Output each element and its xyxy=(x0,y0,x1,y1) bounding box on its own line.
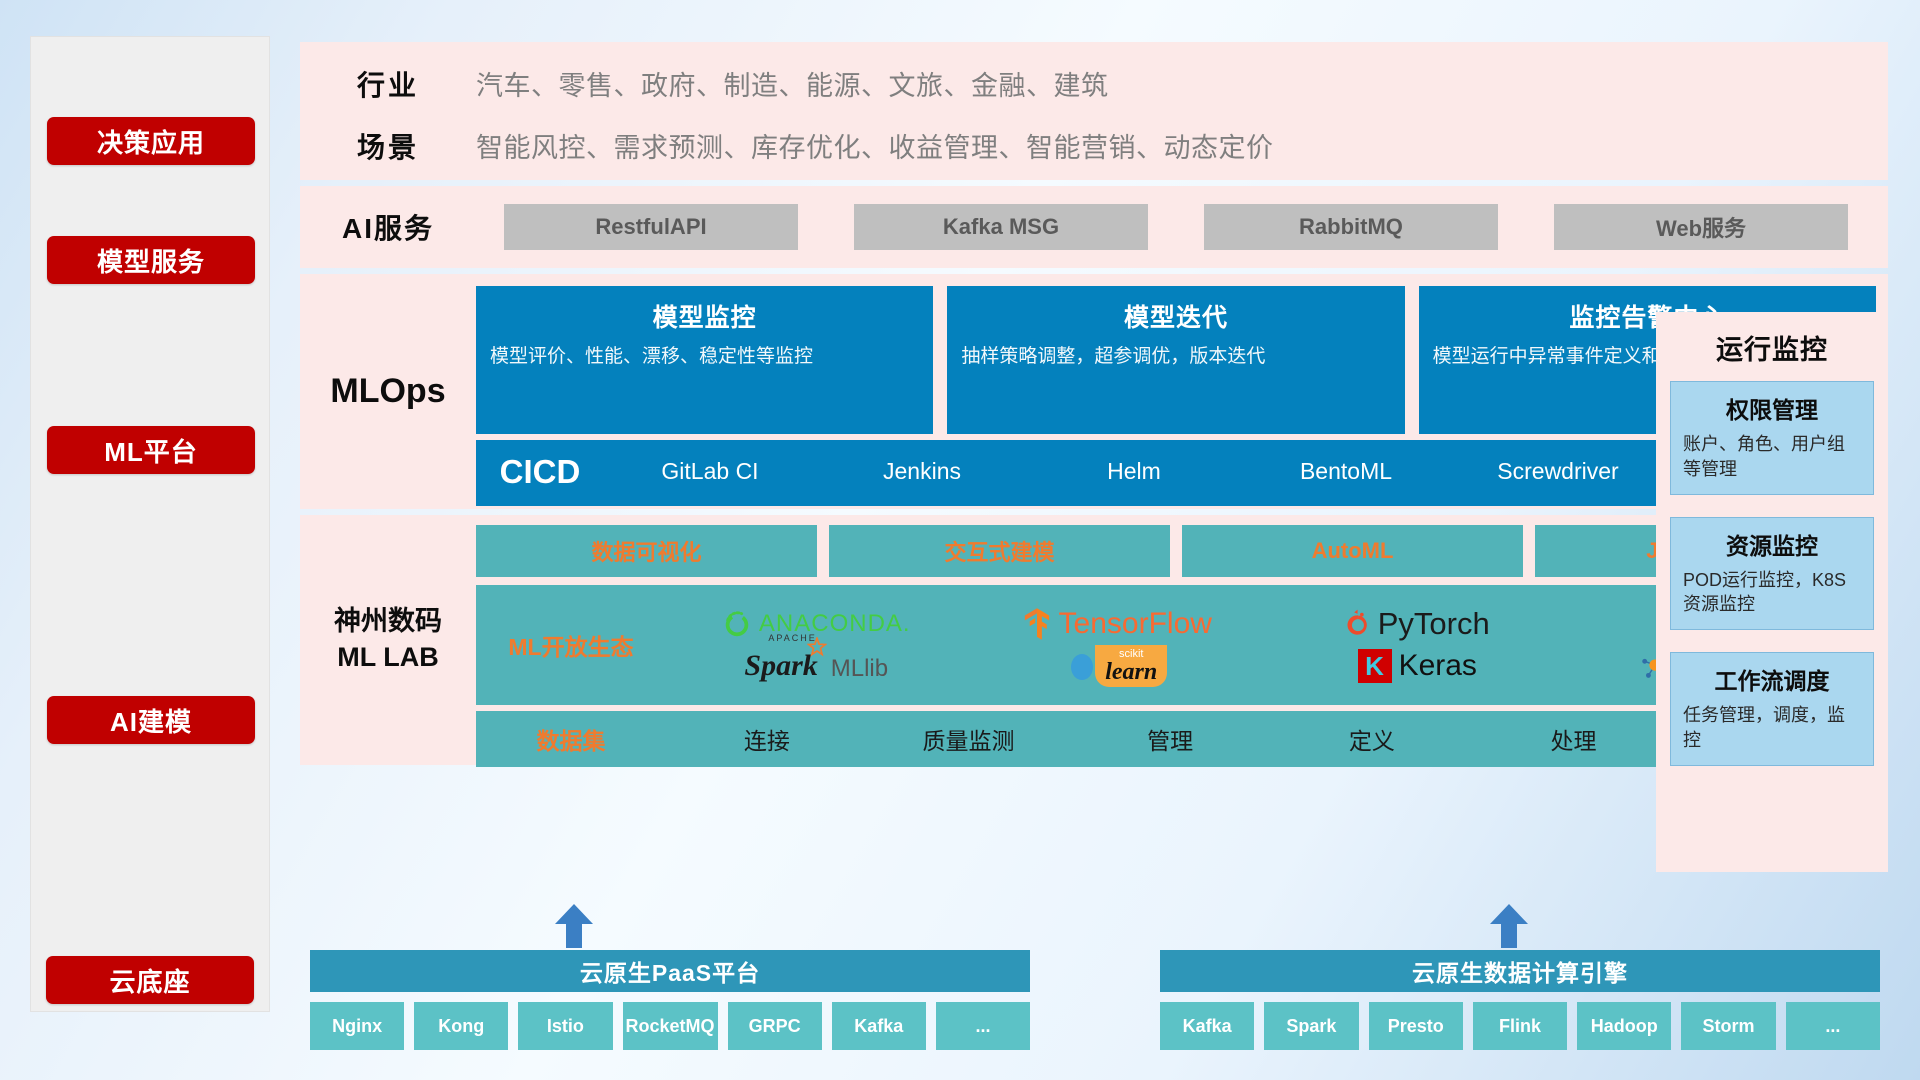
monitor-card-desc: POD运行监控，K8S资源监控 xyxy=(1683,568,1861,618)
mlops-card-model-iteration[interactable]: 模型迭代 抽样策略调整，超参调优，版本迭代 xyxy=(947,286,1404,434)
monitor-card-title: 权限管理 xyxy=(1683,391,1861,425)
cloud-chip-grpc[interactable]: GRPC xyxy=(728,1002,822,1050)
mlops-card-model-monitoring[interactable]: 模型监控 模型评价、性能、漂移、稳定性等监控 xyxy=(476,286,933,434)
rail-item-decision-app[interactable]: 决策应用 xyxy=(47,117,255,165)
monitor-card-desc: 账户、角色、用户组等管理 xyxy=(1683,432,1861,482)
cloud-chip-nginx[interactable]: Nginx xyxy=(310,1002,404,1050)
scenario-key: 场景 xyxy=(300,126,476,166)
monitor-card-desc: 任务管理，调度，监控 xyxy=(1683,703,1861,753)
spark-mllib-logo: APACHE Spark MLlib xyxy=(744,649,888,683)
dataset-item-manage[interactable]: 管理 xyxy=(1069,722,1271,756)
cloud-chip-more[interactable]: ... xyxy=(936,1002,1030,1050)
cloud-chip-spark[interactable]: Spark xyxy=(1264,1002,1358,1050)
pytorch-label: PyTorch xyxy=(1378,606,1490,642)
mlops-card-title: 模型迭代 xyxy=(961,298,1390,334)
mlops-card-desc: 抽样策略调整，超参调优，版本迭代 xyxy=(961,344,1390,370)
ml-lab-band: 神州数码 ML LAB 数据可视化 交互式建模 AutoML JupyterLa… xyxy=(300,515,1888,765)
scikit-learn-logo: scikit learn xyxy=(1066,645,1167,687)
architecture-diagram: 决策应用 模型服务 ML平台 AI建模 云底座 行业 汽车、零售、政府、制造、能… xyxy=(0,0,1920,1080)
ml-lab-tool-interactive-modeling[interactable]: 交互式建模 xyxy=(829,525,1170,577)
monitor-card-title: 资源监控 xyxy=(1683,527,1861,561)
cicd-item-gitlab-ci[interactable]: GitLab CI xyxy=(604,440,816,487)
keras-label: Keras xyxy=(1399,649,1477,683)
cloud-paas-title: 云原生PaaS平台 xyxy=(310,950,1030,992)
cloud-chip-presto[interactable]: Presto xyxy=(1369,1002,1463,1050)
ai-service-chip-web-service[interactable]: Web服务 xyxy=(1554,204,1848,250)
cloud-data-engine-chip-list: Kafka Spark Presto Flink Hadoop Storm ..… xyxy=(1160,1002,1880,1050)
mlops-card-title: 模型监控 xyxy=(490,298,919,334)
scikit-learn-label: learn xyxy=(1105,660,1157,684)
mlops-card-desc: 模型评价、性能、漂移、稳定性等监控 xyxy=(490,344,919,370)
monitor-card-title: 工作流调度 xyxy=(1683,662,1861,696)
monitor-card-workflow[interactable]: 工作流调度 任务管理，调度，监控 xyxy=(1670,652,1874,766)
cloud-chip-storm[interactable]: Storm xyxy=(1681,1002,1775,1050)
runtime-monitoring-panel: 运行监控 权限管理 账户、角色、用户组等管理 资源监控 POD运行监控，K8S资… xyxy=(1656,312,1888,872)
monitor-card-permission[interactable]: 权限管理 账户、角色、用户组等管理 xyxy=(1670,381,1874,495)
industry-scenario-band: 行业 汽车、零售、政府、制造、能源、文旅、金融、建筑 场景 智能风控、需求预测、… xyxy=(300,42,1888,180)
dataset-item-connect[interactable]: 连接 xyxy=(666,722,868,756)
cloud-chip-rocketmq[interactable]: RocketMQ xyxy=(623,1002,718,1050)
ai-service-chip-kafka-msg[interactable]: Kafka MSG xyxy=(854,204,1148,250)
main-stack: 行业 汽车、零售、政府、制造、能源、文旅、金融、建筑 场景 智能风控、需求预测、… xyxy=(300,42,1888,771)
ml-lab-tool-automl[interactable]: AutoML xyxy=(1182,525,1523,577)
ml-lab-tool-data-visualization[interactable]: 数据可视化 xyxy=(476,525,817,577)
rail-item-label: ML平台 xyxy=(104,432,198,469)
dataset-item-define[interactable]: 定义 xyxy=(1271,722,1473,756)
up-arrow-icon-right xyxy=(1490,904,1528,948)
ml-lab-key-line2: ML LAB xyxy=(337,640,439,676)
cloud-chip-hadoop[interactable]: Hadoop xyxy=(1577,1002,1671,1050)
cloud-paas-group: 云原生PaaS平台 Nginx Kong Istio RocketMQ GRPC… xyxy=(310,950,1030,1050)
ai-service-chip-restfulapi[interactable]: RestfulAPI xyxy=(504,204,798,250)
cloud-chip-kong[interactable]: Kong xyxy=(414,1002,508,1050)
cloud-base-section: 云原生PaaS平台 Nginx Kong Istio RocketMQ GRPC… xyxy=(300,902,1888,1052)
mllib-label: MLlib xyxy=(831,655,888,683)
ml-lab-key-line1: 神州数码 xyxy=(334,604,442,640)
mlops-band: MLOps 模型监控 模型评价、性能、漂移、稳定性等监控 模型迭代 抽样策略调整… xyxy=(300,274,1888,509)
ai-service-key: AI服务 xyxy=(300,207,476,247)
ml-lab-key: 神州数码 ML LAB xyxy=(300,515,476,765)
cloud-paas-chip-list: Nginx Kong Istio RocketMQ GRPC Kafka ... xyxy=(310,1002,1030,1050)
dataset-item-process[interactable]: 处理 xyxy=(1473,722,1675,756)
rail-item-label: 模型服务 xyxy=(97,242,205,279)
rail-item-ai-modeling[interactable]: AI建模 xyxy=(47,696,255,744)
ml-ecosystem-label: ML开放生态 xyxy=(476,628,666,662)
ai-service-band: AI服务 RestfulAPI Kafka MSG RabbitMQ Web服务 xyxy=(300,186,1888,268)
tensorflow-logo: TensorFlow xyxy=(1022,607,1212,641)
rail-item-cloud-base[interactable]: 云底座 xyxy=(46,956,254,1004)
cloud-chip-istio[interactable]: Istio xyxy=(518,1002,612,1050)
cicd-item-jenkins[interactable]: Jenkins xyxy=(816,440,1028,487)
cicd-item-helm[interactable]: Helm xyxy=(1028,440,1240,487)
runtime-monitoring-title: 运行监控 xyxy=(1656,312,1888,381)
dataset-label: 数据集 xyxy=(476,722,666,756)
rail-item-label: 云底座 xyxy=(109,962,190,999)
cloud-chip-flink[interactable]: Flink xyxy=(1473,1002,1567,1050)
cloud-chip-kafka[interactable]: Kafka xyxy=(832,1002,926,1050)
rail-item-model-service[interactable]: 模型服务 xyxy=(47,236,255,284)
mlops-key: MLOps xyxy=(300,274,476,509)
industry-row: 行业 汽车、零售、政府、制造、能源、文旅、金融、建筑 xyxy=(300,64,1888,104)
industry-value: 汽车、零售、政府、制造、能源、文旅、金融、建筑 xyxy=(476,64,1109,103)
cicd-item-screwdriver[interactable]: Screwdriver xyxy=(1452,440,1664,487)
industry-key: 行业 xyxy=(300,64,476,104)
rail-item-label: 决策应用 xyxy=(97,123,205,160)
dataset-item-quality[interactable]: 质量监测 xyxy=(868,722,1070,756)
ai-service-chip-rabbitmq[interactable]: RabbitMQ xyxy=(1204,204,1498,250)
ai-service-items: RestfulAPI Kafka MSG RabbitMQ Web服务 xyxy=(476,204,1888,250)
pytorch-logo: PyTorch xyxy=(1345,606,1490,642)
tensorflow-label: TensorFlow xyxy=(1059,607,1212,641)
left-layer-rail: 决策应用 模型服务 ML平台 AI建模 xyxy=(30,36,270,1012)
scenario-row: 场景 智能风控、需求预测、库存优化、收益管理、智能营销、动态定价 xyxy=(300,126,1888,166)
cloud-data-engine-title: 云原生数据计算引擎 xyxy=(1160,950,1880,992)
keras-logo: K Keras xyxy=(1358,649,1477,683)
cloud-data-engine-group: 云原生数据计算引擎 Kafka Spark Presto Flink Hadoo… xyxy=(1160,950,1880,1050)
rail-item-ml-platform[interactable]: ML平台 xyxy=(47,426,255,474)
up-arrow-icon-left xyxy=(555,904,593,948)
cloud-chip-more2[interactable]: ... xyxy=(1786,1002,1880,1050)
cicd-item-bentoml[interactable]: BentoML xyxy=(1240,440,1452,487)
scenario-value: 智能风控、需求预测、库存优化、收益管理、智能营销、动态定价 xyxy=(476,126,1274,165)
cloud-chip-kafka2[interactable]: Kafka xyxy=(1160,1002,1254,1050)
rail-item-label: AI建模 xyxy=(110,702,192,739)
monitor-card-resource[interactable]: 资源监控 POD运行监控，K8S资源监控 xyxy=(1670,517,1874,631)
cicd-title: CICD xyxy=(476,440,604,491)
